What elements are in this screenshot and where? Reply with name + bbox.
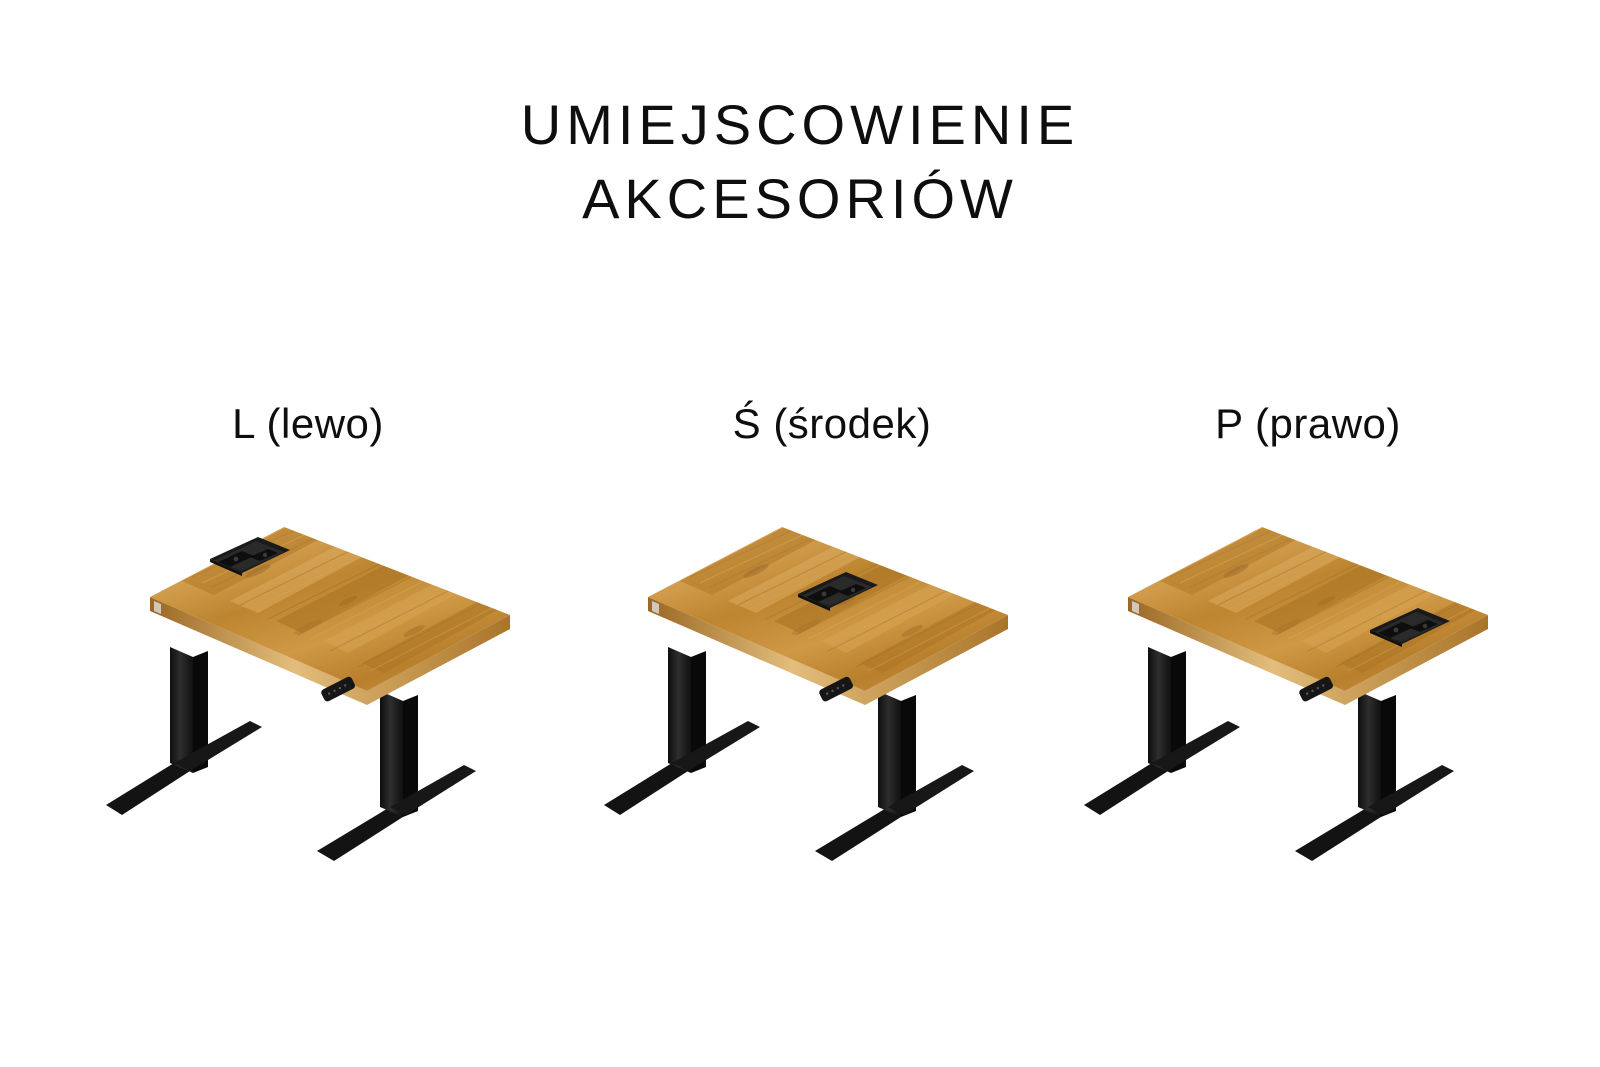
- desk-leg-front-right: [815, 691, 974, 861]
- desk-illustration-center: [560, 505, 1040, 905]
- desk-leg-back-left: [106, 647, 262, 815]
- desk-leg-back-left: [604, 647, 760, 815]
- page-title: UMIEJSCOWIENIE AKCESORIÓW: [0, 88, 1600, 236]
- desk-leg-front-right: [317, 691, 476, 861]
- desk-leg-back-left: [1084, 647, 1240, 815]
- page-title-line-2: AKCESORIÓW: [0, 162, 1600, 236]
- desk-illustration-right: [1040, 505, 1520, 905]
- variant-label-center: Ś (środek): [622, 400, 1042, 448]
- variant-labels-row: L (lewo) Ś (środek) P (prawo): [0, 400, 1600, 464]
- desk-illustrations-row: [0, 505, 1600, 925]
- page-title-line-1: UMIEJSCOWIENIE: [0, 88, 1600, 162]
- variant-label-right: P (prawo): [1098, 400, 1518, 448]
- infographic-canvas: UMIEJSCOWIENIE AKCESORIÓW L (lewo) Ś (śr…: [0, 0, 1600, 1067]
- variant-label-left: L (lewo): [98, 400, 518, 448]
- desk-leg-front-right: [1295, 691, 1454, 861]
- desk-illustration-left: [62, 505, 542, 905]
